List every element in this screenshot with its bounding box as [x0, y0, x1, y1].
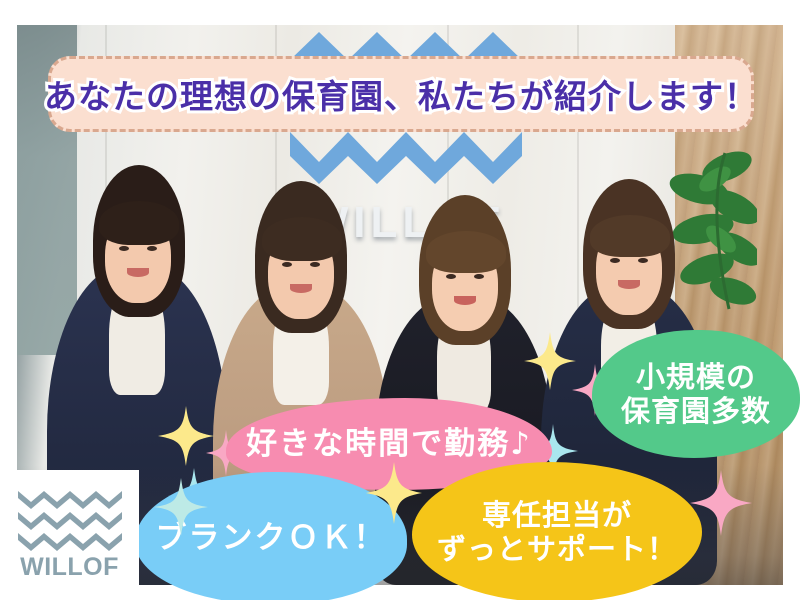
headline-banner: あなたの理想の保育園、私たちが紹介します！: [48, 56, 754, 132]
logo-zigzag-icon: [18, 489, 122, 551]
poster-canvas: WILLOF: [0, 0, 800, 600]
person-4-mouth: [618, 280, 640, 289]
sparkle-icon: [154, 478, 208, 536]
person-2-eye-left: [282, 262, 292, 267]
person-4-eye-right: [638, 258, 648, 263]
bubble-yellow-line-1: 専任担当が: [482, 498, 632, 532]
person-1-eye-right: [147, 246, 157, 251]
person-3-mouth: [454, 296, 476, 305]
person-1-eye-left: [119, 246, 129, 251]
willof-logo: WILLOF: [0, 470, 139, 600]
bubble-green-line-1: 小規模の: [636, 360, 756, 394]
person-2-mouth: [290, 284, 312, 293]
person-4-eye-left: [610, 258, 620, 263]
person-2-fringe: [262, 217, 342, 261]
person-3-eye-left: [446, 274, 456, 279]
bubble-dedicated-support: 専任担当が ずっとサポート！: [412, 462, 702, 600]
person-4-fringe: [590, 215, 670, 257]
person-3-fringe: [426, 231, 506, 273]
bubble-yellow-line-2: ずっとサポート！: [437, 532, 677, 566]
logo-wordmark: WILLOF: [20, 553, 119, 582]
person-1-mouth: [127, 268, 149, 277]
headline-text: あなたの理想の保育園、私たちが紹介します！: [44, 70, 758, 118]
person-3-eye-right: [474, 274, 484, 279]
person-1-fringe: [99, 201, 179, 245]
sparkle-icon: [524, 332, 576, 390]
person-2-eye-right: [310, 262, 320, 267]
bubble-pink-line-1: 好きな時間で勤務♪: [246, 426, 532, 463]
bubble-small-nurseries: 小規模の 保育園多数: [592, 330, 800, 458]
bubble-green-line-2: 保育園多数: [621, 394, 771, 428]
sparkle-icon: [366, 462, 422, 524]
